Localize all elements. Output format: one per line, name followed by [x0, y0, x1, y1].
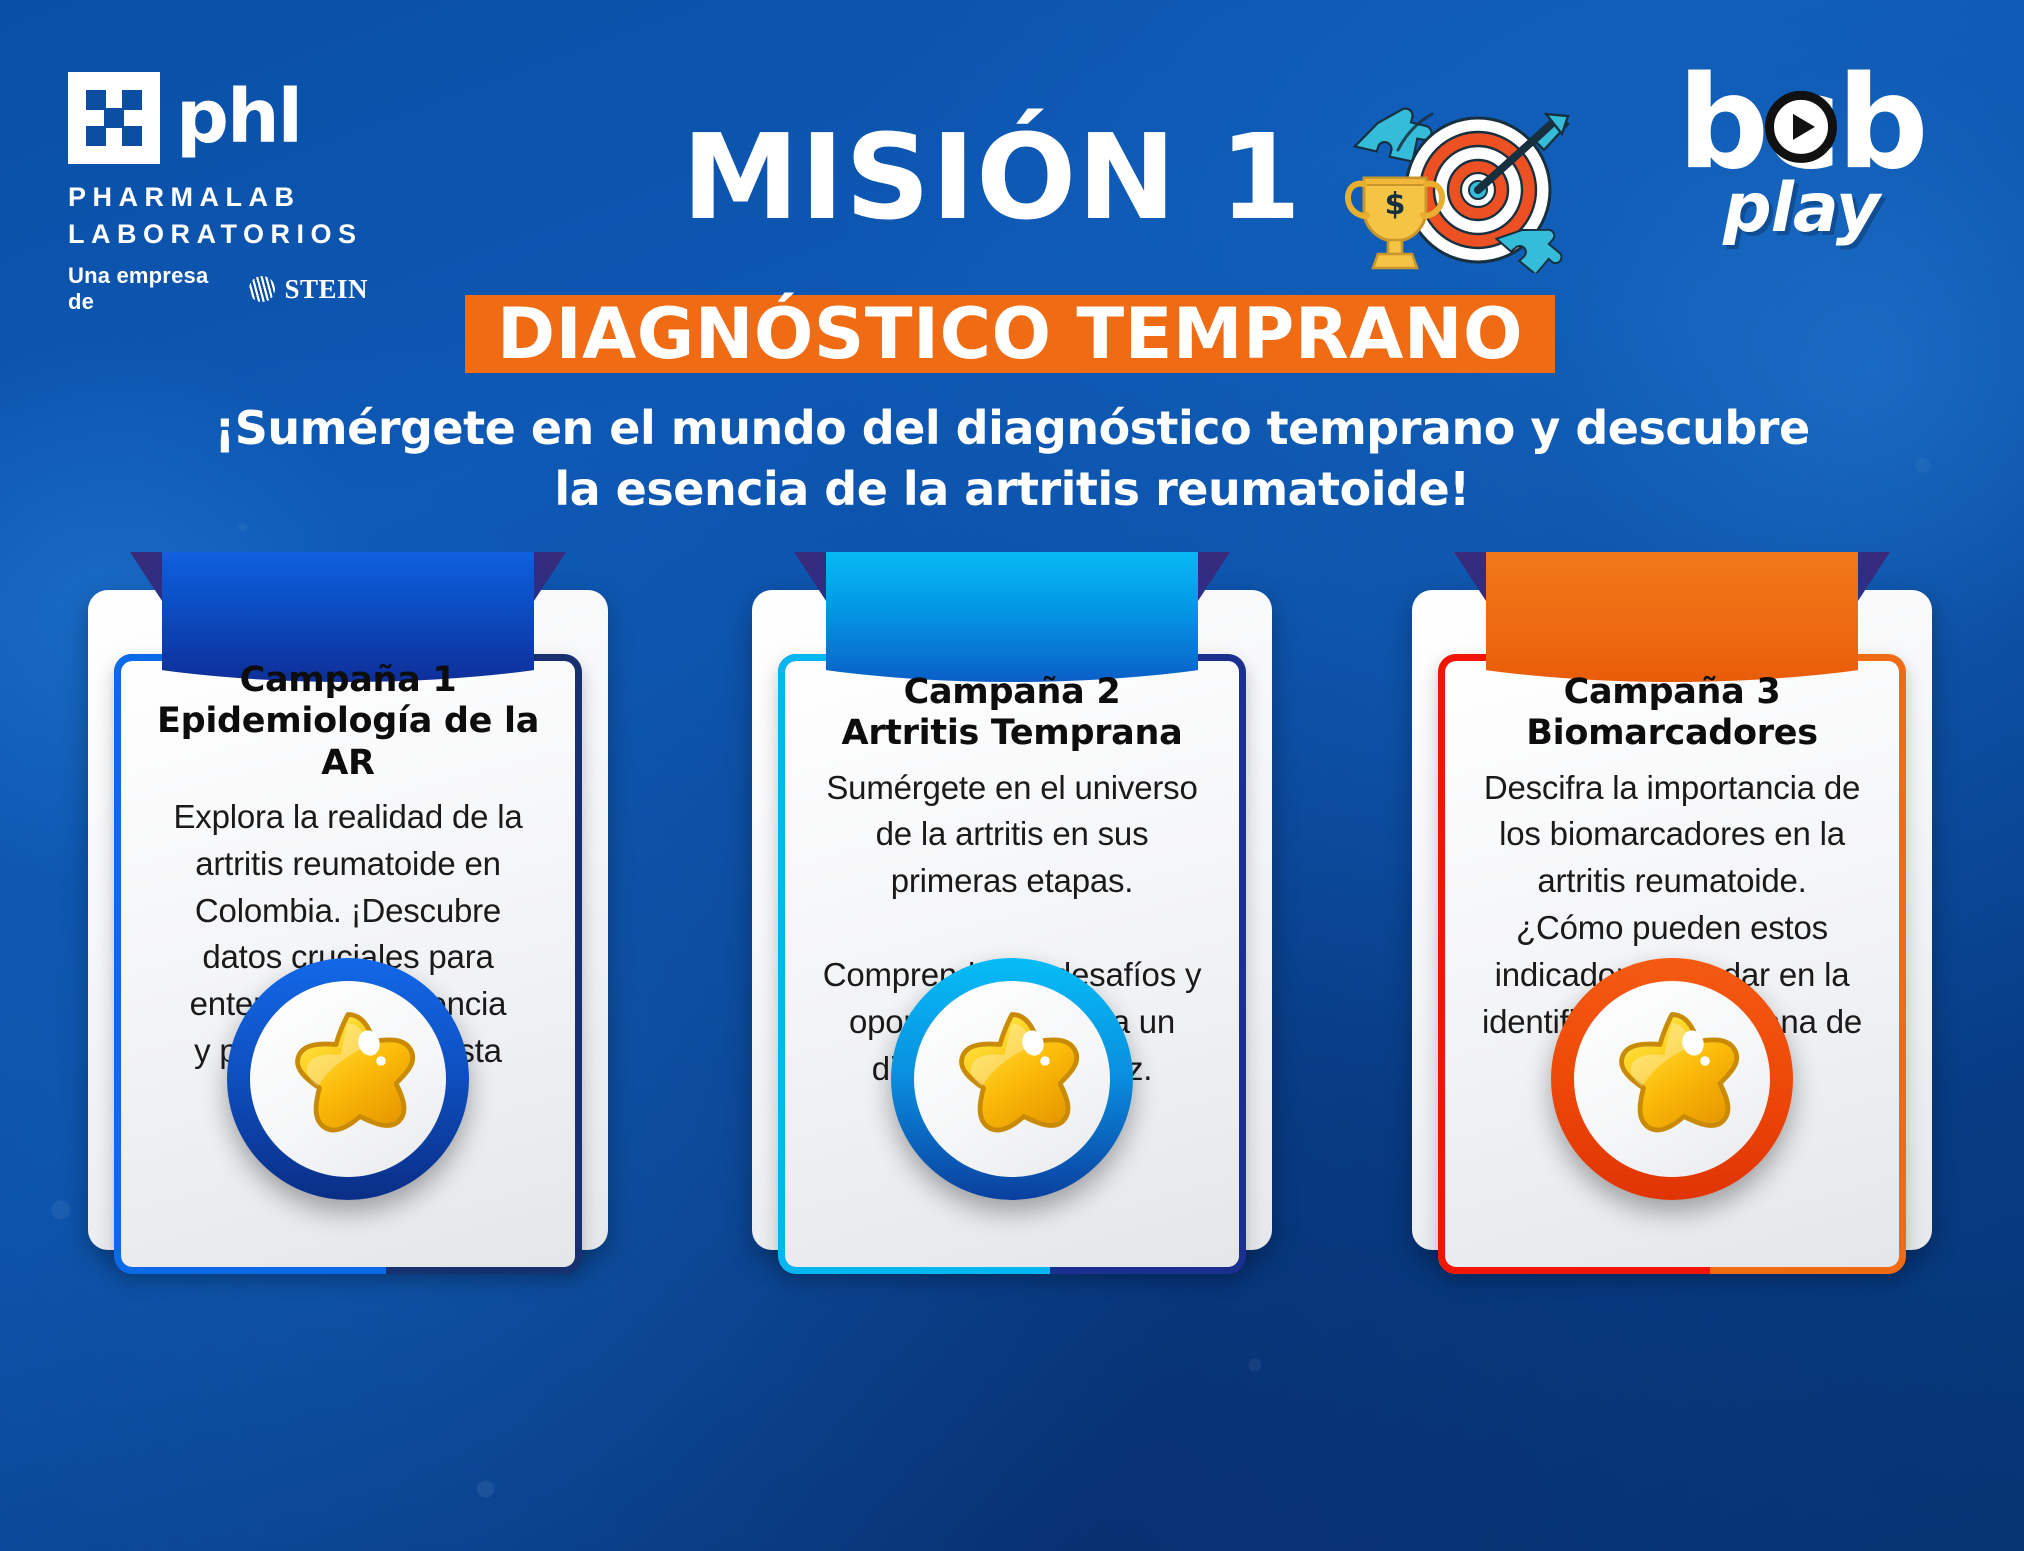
subtitle-line-2: la esencia de la artritis reumatoide!: [0, 459, 2024, 520]
subtitle-line-1: ¡Sumérgete en el mundo del diagnóstico t…: [0, 398, 2024, 459]
star-badge[interactable]: [1551, 958, 1793, 1200]
star-badge-inner: [250, 981, 446, 1177]
card-campaign-name: Epidemiología de la AR: [128, 701, 568, 784]
mission-icon-cluster: $: [1330, 98, 1570, 273]
star-badge[interactable]: [227, 958, 469, 1200]
ribbon-body: [1486, 552, 1858, 682]
star-badge[interactable]: [891, 958, 1133, 1200]
phl-parent-company: Una empresa de STEIN: [68, 263, 368, 315]
mission-title-text: MISIÓN 1: [682, 118, 1302, 236]
stein-wordmark: STEIN: [284, 274, 368, 305]
page-subtitle: ¡Sumérgete en el mundo del diagnóstico t…: [0, 398, 2024, 519]
gold-star-icon: [937, 1004, 1087, 1154]
card-ribbon: [826, 552, 1198, 682]
card-campaign-name: Artritis Temprana: [792, 713, 1232, 754]
star-badge-inner: [1574, 981, 1770, 1177]
campaign-cards: Campaña 1 Epidemiología de la AR Explora…: [0, 552, 2024, 1272]
card-campaign-label: Campaña 2: [792, 672, 1232, 713]
card-campaign-label: Campaña 1: [128, 660, 568, 701]
banner-title-text: DIAGNÓSTICO TEMPRANO: [497, 299, 1523, 369]
page-title: MISIÓN 1: [0, 118, 2024, 236]
card-campaign-label: Campaña 3: [1452, 672, 1892, 713]
card-campaign-name: Biomarcadores: [1452, 713, 1892, 754]
phl-parent-prefix: Una empresa de: [68, 263, 240, 315]
star-badge-inner: [914, 981, 1110, 1177]
card-ribbon: [1486, 552, 1858, 682]
trophy-target-icons: $: [1330, 98, 1570, 273]
ribbon-body: [826, 552, 1198, 682]
svg-text:$: $: [1385, 187, 1406, 222]
stein-swirl-icon: [249, 276, 275, 302]
gold-star-icon: [273, 1004, 423, 1154]
banner-diagnostico-temprano: DIAGNÓSTICO TEMPRANO: [465, 295, 1555, 373]
gold-star-icon: [1597, 1004, 1747, 1154]
